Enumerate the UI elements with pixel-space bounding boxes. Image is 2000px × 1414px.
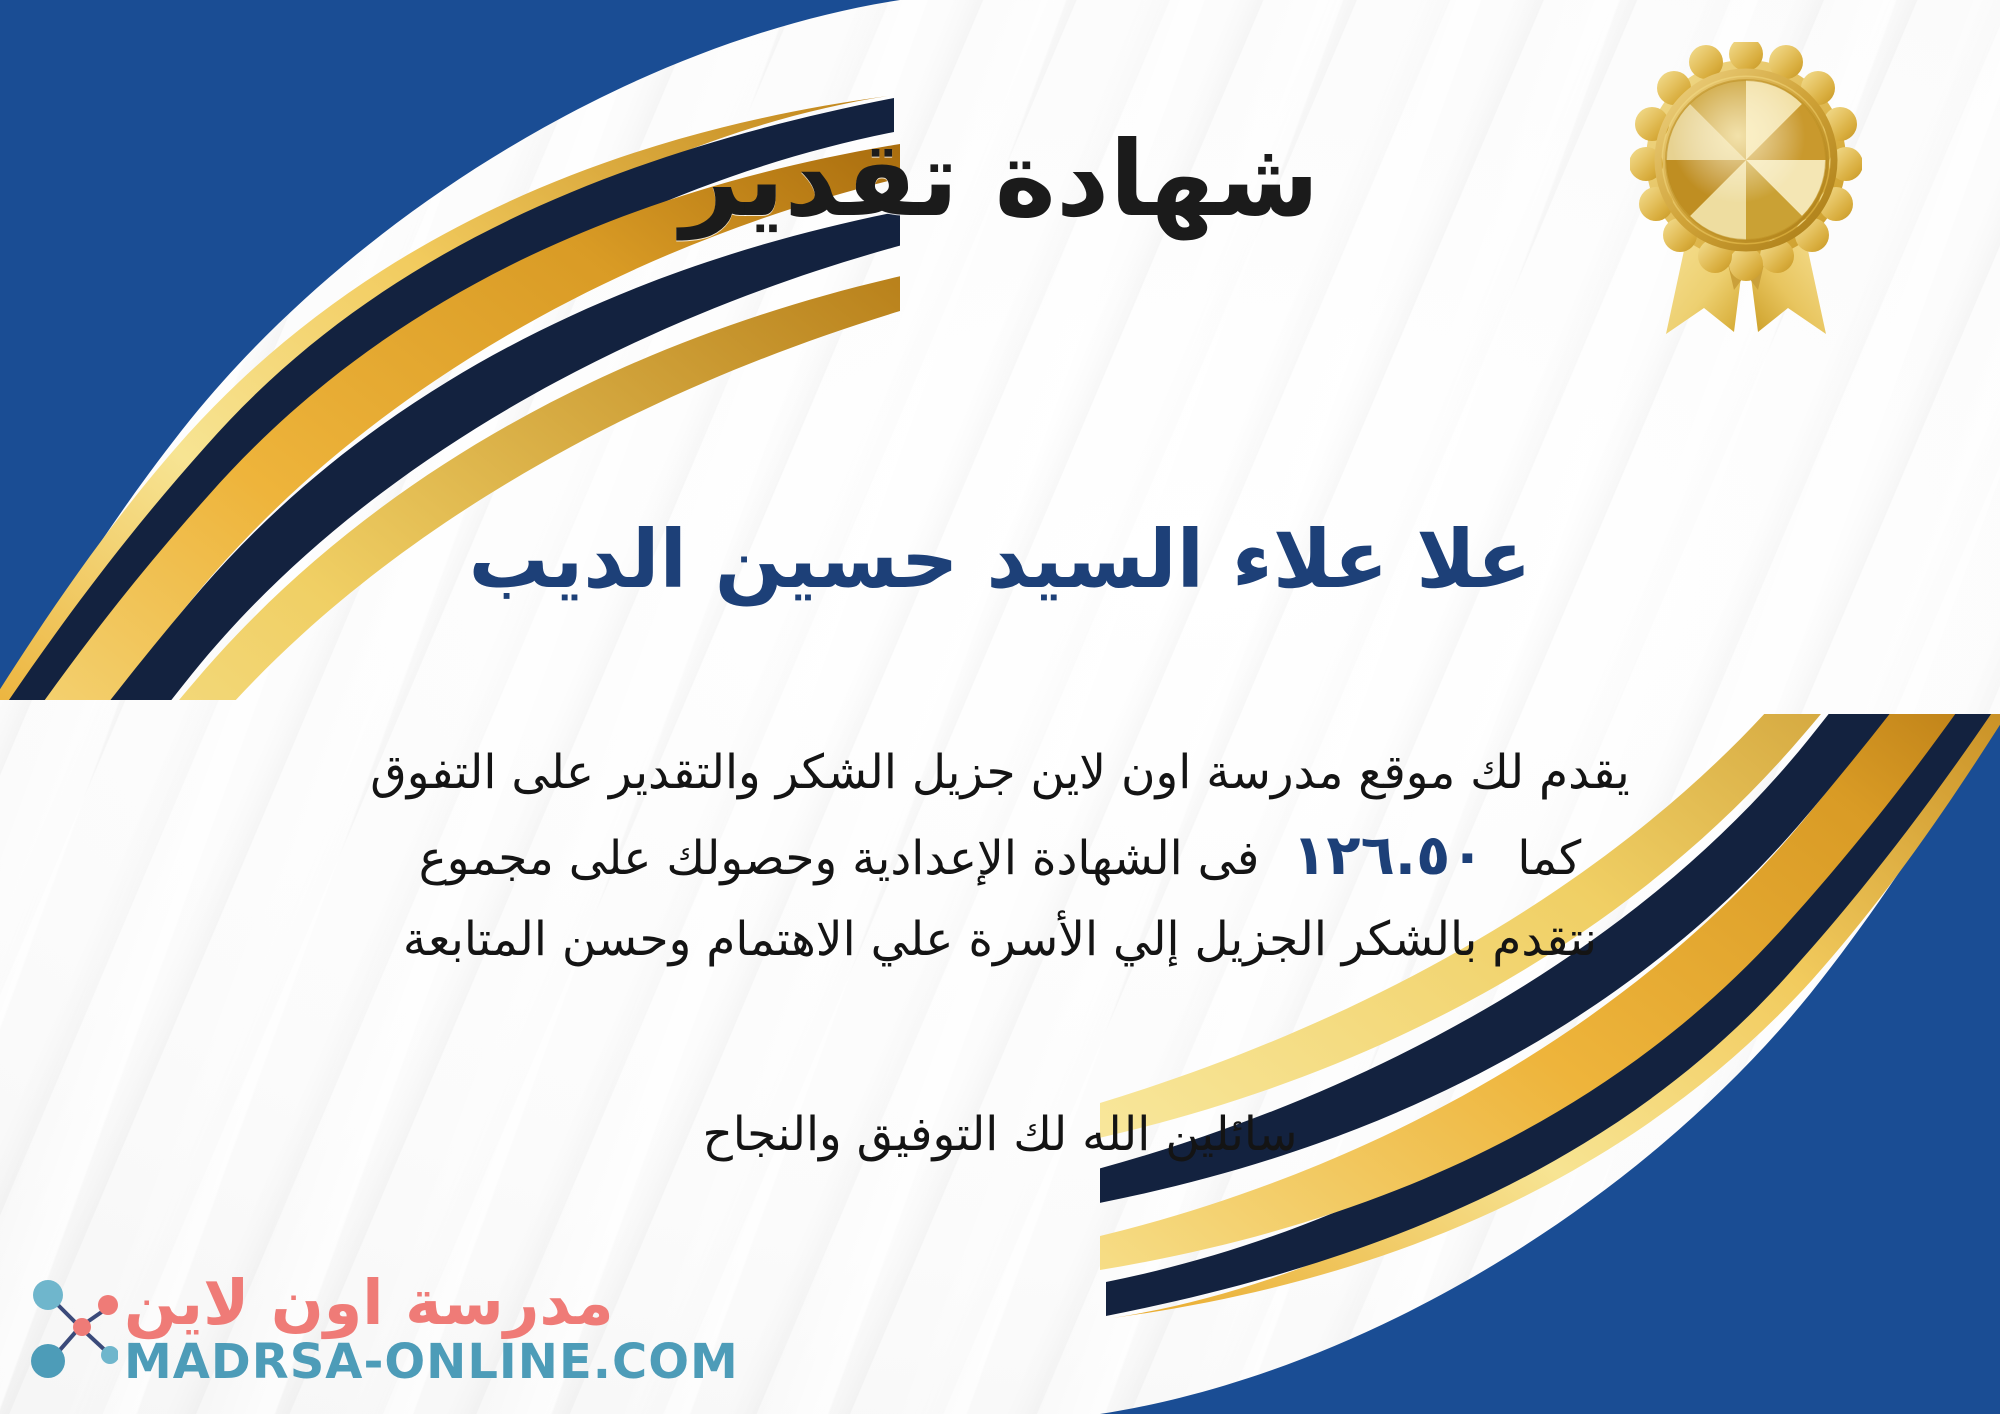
brand-name-arabic: مدرسة اون لاين — [124, 1272, 614, 1334]
brand-logo[interactable]: مدرسة اون لاين MADRSA-ONLINE.COM — [22, 1272, 739, 1386]
body-line-3: نتقدم بالشكر الجزيل إلي الأسرة علي الاهت… — [52, 902, 1948, 978]
certificate-body: يقدم لك موقع مدرسة اون لاين جزيل الشكر و… — [52, 735, 1948, 978]
brand-website: MADRSA-ONLINE.COM — [124, 1338, 739, 1386]
network-nodes-icon — [22, 1273, 118, 1385]
score-value: ١٢٦.٥٠ — [1274, 823, 1502, 888]
body-line-1: يقدم لك موقع مدرسة اون لاين جزيل الشكر و… — [52, 735, 1948, 811]
body-line-2-after: كما — [1517, 831, 1581, 886]
body-line-2: كما ١٢٦.٥٠ فى الشهادة الإعدادية وحصولك ع… — [52, 811, 1948, 902]
gold-award-rosette-icon — [1630, 42, 1862, 337]
recipient-name: علا علاء السيد حسين الديب — [0, 512, 2000, 608]
brand-text: مدرسة اون لاين MADRSA-ONLINE.COM — [124, 1272, 739, 1386]
certificate-canvas: شهادة تقدير علا علاء السيد حسين الديب يق… — [0, 0, 2000, 1414]
body-line-2-before: فى الشهادة الإعدادية وحصولك على مجموع — [419, 831, 1260, 886]
closing-line: سائلين الله لك التوفيق والنجاح — [0, 1100, 2000, 1171]
